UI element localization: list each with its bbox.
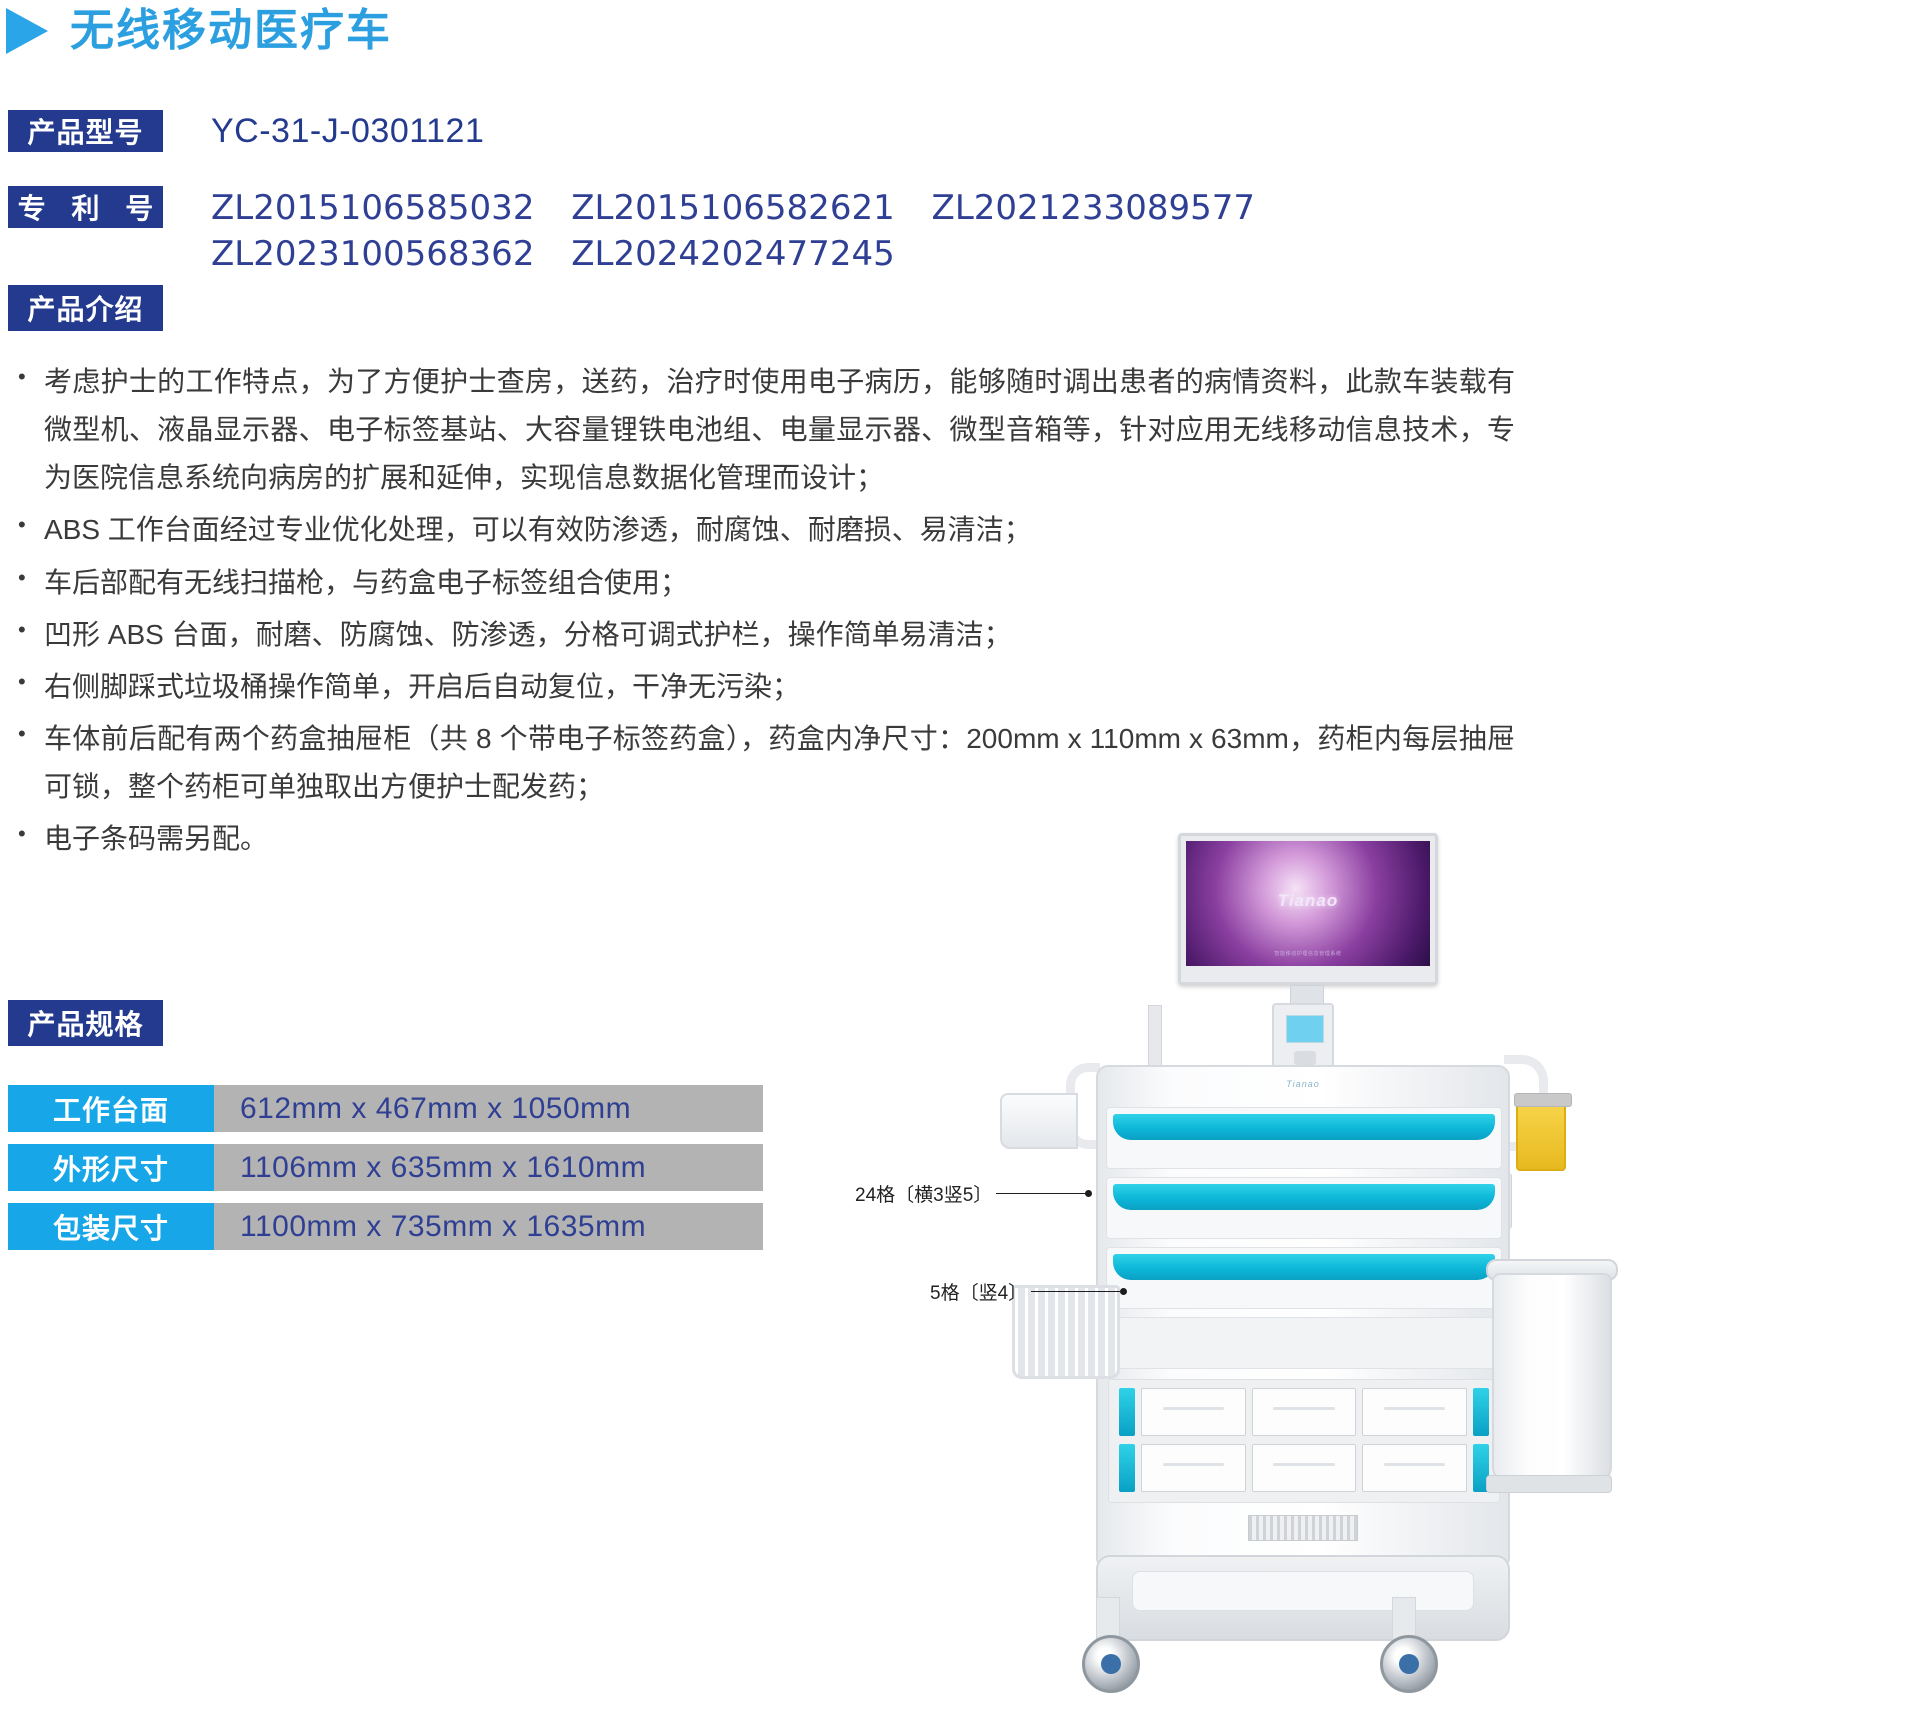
control-keypad bbox=[1272, 1003, 1334, 1073]
model-label-badge: 产品型号 bbox=[8, 110, 163, 152]
spec-value: 1100mm x 735mm x 1635mm bbox=[214, 1203, 763, 1250]
keypad-screen bbox=[1286, 1015, 1324, 1043]
bin-band bbox=[1119, 1444, 1135, 1492]
screen-subtext: 智能移动护理信息管理系统 bbox=[1186, 950, 1430, 957]
intro-bullet-list: • 考虑护士的工作特点，为了方便护士查房，送药，治疗时使用电子病历，能够随时调出… bbox=[10, 358, 1515, 868]
patent-number: ZL2021233089577 bbox=[932, 188, 1255, 228]
bullet-dot-icon: • bbox=[10, 358, 44, 502]
bullet-dot-icon: • bbox=[10, 506, 44, 554]
wheel-cap bbox=[1399, 1654, 1419, 1674]
table-row: 工作台面 612mm x 467mm x 1050mm bbox=[8, 1085, 763, 1132]
bin-cell bbox=[1141, 1388, 1246, 1436]
base-tray-inner bbox=[1132, 1571, 1474, 1611]
drawer bbox=[1106, 1247, 1502, 1309]
intro-label-badge: 产品介绍 bbox=[8, 285, 163, 331]
drawer-handle bbox=[1113, 1184, 1495, 1210]
spec-section-header: 产品规格 bbox=[8, 1000, 163, 1046]
bin-cell bbox=[1362, 1388, 1467, 1436]
spec-value: 612mm x 467mm x 1050mm bbox=[214, 1085, 763, 1132]
patent-number: ZL2024202477245 bbox=[571, 234, 894, 274]
bin-band bbox=[1473, 1388, 1489, 1436]
screen-logo: Tianao bbox=[1186, 891, 1430, 911]
bullet-dot-icon: • bbox=[10, 663, 44, 711]
monitor-pole bbox=[1148, 1005, 1162, 1069]
callout-text: 5格〔竖4〕 bbox=[930, 1278, 1027, 1305]
list-item-text: 车后部配有无线扫描枪，与药盒电子标签组合使用； bbox=[44, 559, 1515, 607]
keypad-button bbox=[1294, 1051, 1316, 1065]
cart-body: Tianao bbox=[1096, 1065, 1510, 1565]
callout-text: 24格〔横3竖5〕 bbox=[855, 1180, 992, 1207]
page-title: 无线移动医疗车 bbox=[70, 9, 392, 53]
product-photo: Tianao 智能移动护理信息管理系统 Tianao bbox=[1000, 855, 1640, 1695]
intro-section-header: 产品介绍 bbox=[8, 285, 163, 331]
bin-row bbox=[1119, 1388, 1489, 1436]
list-item-text: 车体前后配有两个药盒抽屉柜（共 8 个带电子标签药盒），药盒内净尺寸：200mm… bbox=[44, 715, 1515, 811]
spec-key: 工作台面 bbox=[8, 1085, 214, 1132]
list-item-text: 考虑护士的工作特点，为了方便护士查房，送药，治疗时使用电子病历，能够随时调出患者… bbox=[44, 358, 1515, 502]
sharps-container-lid bbox=[1514, 1093, 1572, 1107]
model-value: YC-31-J-0301121 bbox=[211, 112, 484, 151]
monitor-screen: Tianao 智能移动护理信息管理系统 bbox=[1186, 841, 1430, 966]
spec-key: 包装尺寸 bbox=[8, 1203, 214, 1250]
bullet-dot-icon: • bbox=[10, 815, 44, 863]
bin-cell bbox=[1252, 1388, 1357, 1436]
drawer bbox=[1106, 1177, 1502, 1239]
bin-cell bbox=[1362, 1444, 1467, 1492]
patent-label-badge: 专 利 号 bbox=[8, 186, 163, 228]
cart-logo: Tianao bbox=[1098, 1079, 1508, 1089]
list-item-text: ABS 工作台面经过专业优化处理，可以有效防渗透，耐腐蚀、耐磨损、易清洁； bbox=[44, 506, 1515, 554]
base-tray bbox=[1096, 1555, 1510, 1641]
patent-line-1: ZL2015106585032 ZL2015106582621 ZL202123… bbox=[211, 186, 1281, 232]
patent-number: ZL2023100568362 bbox=[211, 234, 534, 274]
bullet-dot-icon: • bbox=[10, 611, 44, 659]
list-item-text: 右侧脚踩式垃圾桶操作简单，开启后自动复位，干净无污染； bbox=[44, 663, 1515, 711]
spec-label-badge: 产品规格 bbox=[8, 1000, 163, 1046]
list-item: • 车体前后配有两个药盒抽屉柜（共 8 个带电子标签药盒），药盒内净尺寸：200… bbox=[10, 715, 1515, 811]
list-item: • ABS 工作台面经过专业优化处理，可以有效防渗透，耐腐蚀、耐磨损、易清洁； bbox=[10, 506, 1515, 554]
caster-wheel-right bbox=[1380, 1635, 1438, 1693]
caster-wheel-left bbox=[1082, 1635, 1140, 1693]
bin-cell bbox=[1141, 1444, 1246, 1492]
callout-annotation: 24格〔横3竖5〕 bbox=[855, 1180, 1088, 1207]
drawer bbox=[1106, 1107, 1502, 1169]
spec-value: 1106mm x 635mm x 1610mm bbox=[214, 1144, 763, 1191]
list-item: • 车后部配有无线扫描枪，与药盒电子标签组合使用； bbox=[10, 559, 1515, 607]
model-row: 产品型号 YC-31-J-0301121 bbox=[8, 110, 484, 152]
drawer-handle bbox=[1113, 1254, 1495, 1280]
callout-annotation: 5格〔竖4〕 bbox=[930, 1278, 1123, 1305]
bin-cell bbox=[1252, 1444, 1357, 1492]
drawer-handle bbox=[1113, 1114, 1495, 1140]
spec-key: 外形尺寸 bbox=[8, 1144, 214, 1191]
sharps-container bbox=[1516, 1101, 1566, 1171]
page-header: 无线移动医疗车 bbox=[0, 8, 392, 54]
patent-values: ZL2015106585032 ZL2015106582621 ZL202123… bbox=[211, 186, 1281, 278]
wheel-cap bbox=[1101, 1654, 1121, 1674]
drawer-plain bbox=[1106, 1317, 1502, 1369]
patent-number: ZL2015106585032 bbox=[211, 188, 534, 228]
monitor: Tianao 智能移动护理信息管理系统 bbox=[1178, 833, 1438, 985]
list-item: • 考虑护士的工作特点，为了方便护士查房，送药，治疗时使用电子病历，能够随时调出… bbox=[10, 358, 1515, 502]
trash-bin bbox=[1492, 1273, 1612, 1483]
table-row: 外形尺寸 1106mm x 635mm x 1610mm bbox=[8, 1144, 763, 1191]
callout-leader-line bbox=[1031, 1291, 1123, 1292]
side-tray bbox=[1000, 1093, 1078, 1149]
spec-table: 工作台面 612mm x 467mm x 1050mm 外形尺寸 1106mm … bbox=[8, 1085, 763, 1262]
list-item: • 凹形 ABS 台面，耐磨、防腐蚀、防渗透，分格可调式护栏，操作简单易清洁； bbox=[10, 611, 1515, 659]
patent-line-2: ZL2023100568362 ZL2024202477245 bbox=[211, 232, 1281, 278]
callout-leader-line bbox=[996, 1193, 1088, 1194]
list-item: • 右侧脚踩式垃圾桶操作简单，开启后自动复位，干净无污染； bbox=[10, 663, 1515, 711]
patent-number: ZL2015106582621 bbox=[571, 188, 894, 228]
medicine-bin-area bbox=[1108, 1379, 1500, 1503]
foot-pedal bbox=[1486, 1475, 1612, 1493]
bin-row bbox=[1119, 1444, 1489, 1492]
play-triangle-icon bbox=[6, 8, 48, 54]
patent-row: 专 利 号 ZL2015106585032 ZL2015106582621 ZL… bbox=[8, 186, 1281, 278]
bullet-dot-icon: • bbox=[10, 715, 44, 811]
bullet-dot-icon: • bbox=[10, 559, 44, 607]
bin-band bbox=[1119, 1388, 1135, 1436]
table-row: 包装尺寸 1100mm x 735mm x 1635mm bbox=[8, 1203, 763, 1250]
list-item-text: 凹形 ABS 台面，耐磨、防腐蚀、防渗透，分格可调式护栏，操作简单易清洁； bbox=[44, 611, 1515, 659]
vent-grille bbox=[1248, 1515, 1358, 1541]
